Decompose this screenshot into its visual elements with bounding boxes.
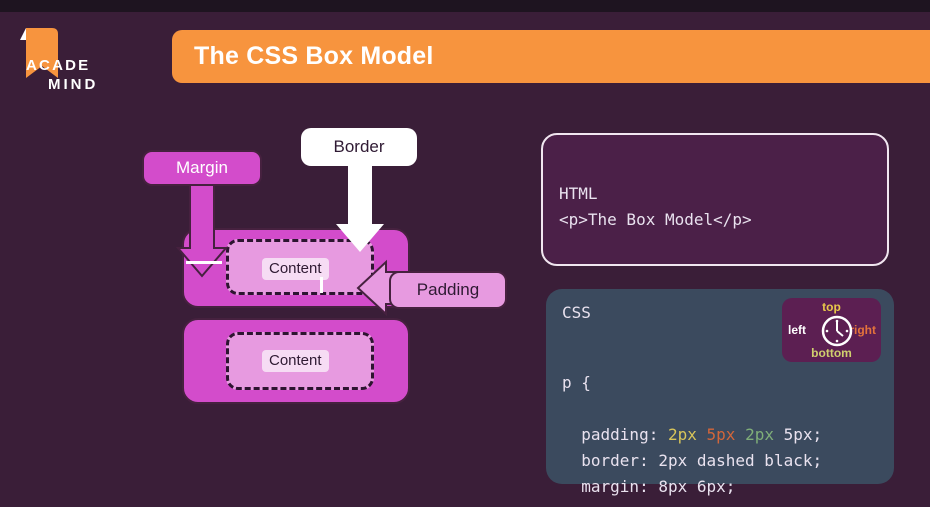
css-rule-0-value-left: 5px bbox=[784, 425, 813, 444]
css-rule-0-value-bottom: 2px bbox=[745, 425, 774, 444]
css-selector-open: p { bbox=[562, 373, 591, 392]
css-panel-code: p { padding: 2px 5px 2px 5px; border: 2p… bbox=[562, 344, 894, 507]
slide-root: ACADE MIND The CSS Box Model Content Con… bbox=[0, 0, 930, 507]
label-margin: Margin bbox=[142, 150, 262, 186]
badge-label-left: left bbox=[788, 323, 806, 337]
badge-label-bottom: bottom bbox=[782, 346, 881, 360]
css-rule-2-terminator: ; bbox=[726, 477, 736, 496]
css-rule-0-property: padding: bbox=[581, 425, 658, 444]
label-margin-text: Margin bbox=[176, 158, 228, 178]
margin-measure-tick bbox=[186, 261, 222, 264]
badge-label-top: top bbox=[782, 300, 881, 314]
label-padding-text: Padding bbox=[417, 280, 479, 300]
diagram-arrows bbox=[0, 0, 540, 507]
shorthand-order-badge: top left right bottom bbox=[782, 298, 881, 362]
box-model-diagram: Content Content Margin Border Padding bbox=[0, 0, 540, 507]
html-panel-label: HTML bbox=[559, 181, 887, 207]
css-rule-2-property: margin: bbox=[581, 477, 648, 496]
css-rule-0-terminator: ; bbox=[813, 425, 823, 444]
label-padding: Padding bbox=[389, 271, 507, 309]
css-rule-2-value: 8px 6px bbox=[658, 477, 725, 496]
label-border: Border bbox=[301, 128, 417, 166]
css-rule-1-property: border: bbox=[581, 451, 648, 470]
css-rule-1-terminator: ; bbox=[812, 451, 822, 470]
label-border-text: Border bbox=[333, 137, 384, 157]
css-rule-0-value-right: 5px bbox=[707, 425, 736, 444]
css-code-panel: CSS p { padding: 2px 5px 2px 5px; border… bbox=[546, 289, 894, 484]
clock-icon bbox=[821, 315, 853, 347]
html-code-panel: HTML <p>The Box Model</p> bbox=[541, 133, 889, 266]
padding-measure-tick bbox=[320, 277, 323, 293]
badge-label-right: right bbox=[849, 323, 876, 337]
html-panel-code: <p>The Box Model</p> bbox=[559, 207, 887, 233]
border-arrow-icon bbox=[336, 163, 384, 252]
css-rule-1-value: 2px dashed black bbox=[658, 451, 812, 470]
css-rule-0-value-top: 2px bbox=[668, 425, 697, 444]
